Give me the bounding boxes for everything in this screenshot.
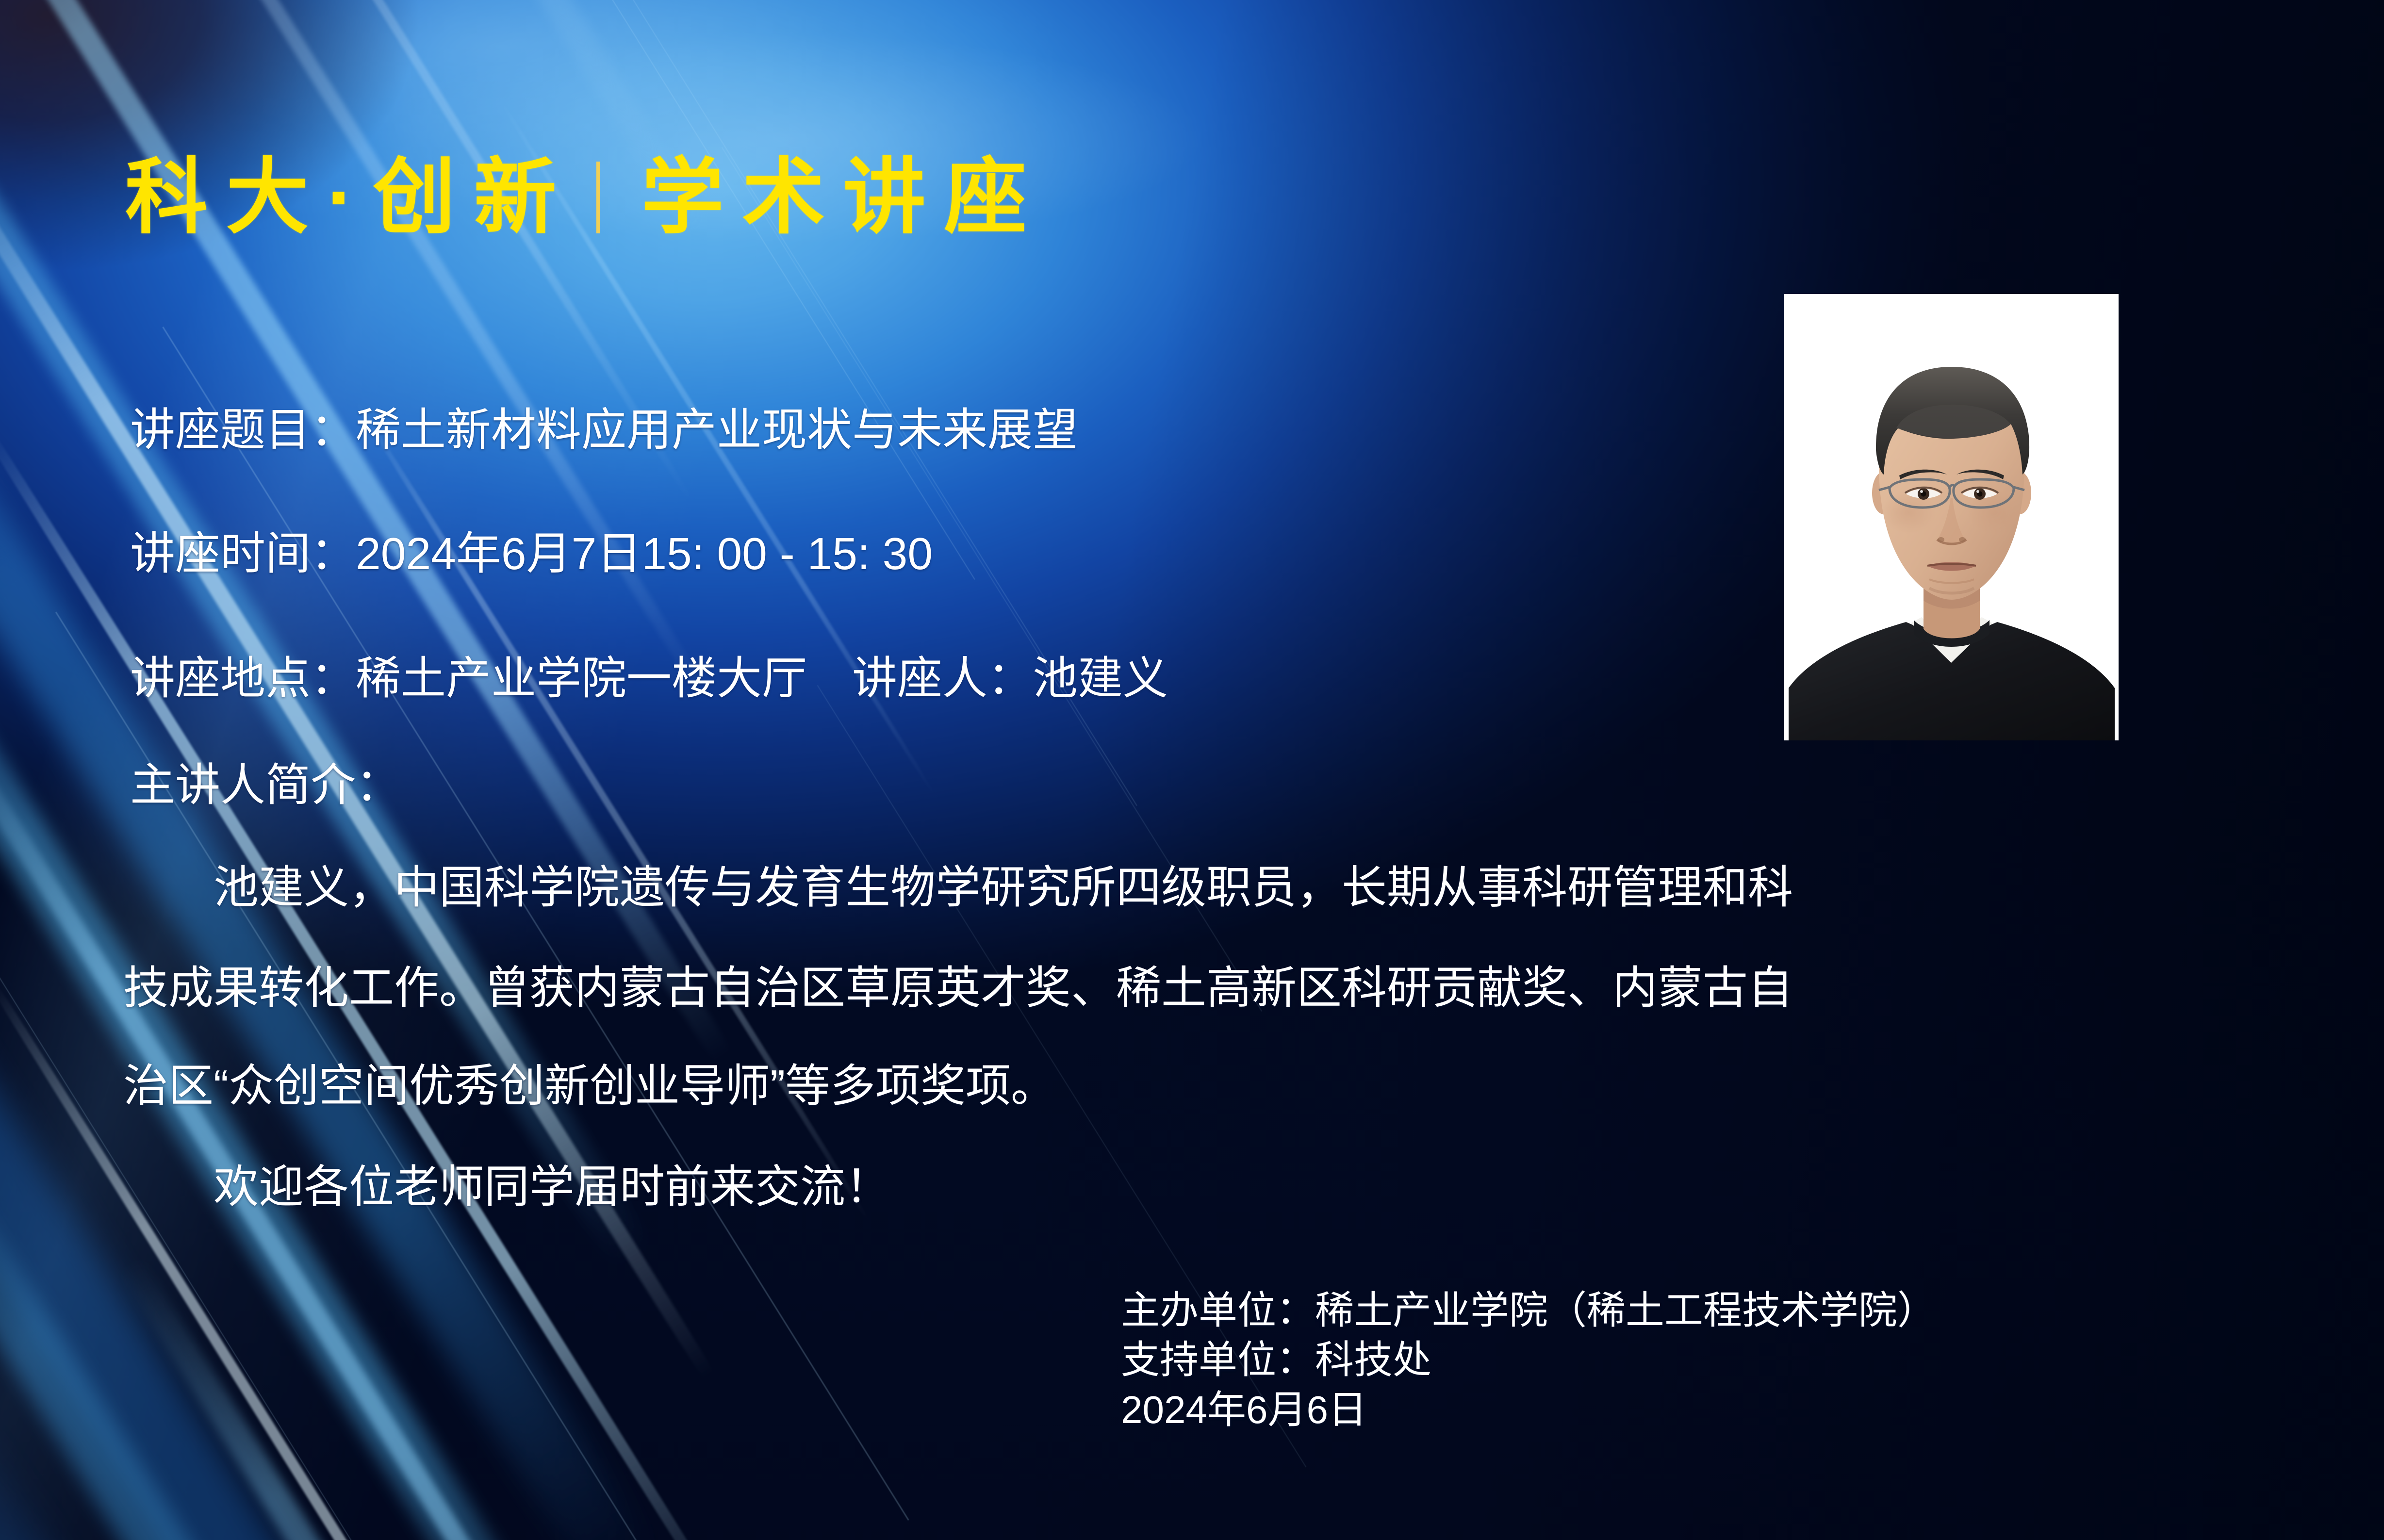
- lecture-time: 讲座时间：2024年6月7日15: 00 - 15: 30: [130, 531, 933, 576]
- footer-supporter: 支持单位：科技处: [1121, 1335, 1936, 1385]
- speaker-photo: [1784, 294, 2119, 740]
- welcome-line: 欢迎各位老师同学届时前来交流！: [123, 1164, 890, 1210]
- bio-paragraph-line: 技成果转化工作。曾获内蒙古自治区草原英才奖、稀土高新区科研贡献奖、内蒙古自: [123, 966, 1793, 1011]
- lecture-topic: 讲座题目：稀土新材料应用产业现状与未来展望: [130, 408, 1078, 453]
- title-left: 科大·创新: [125, 156, 575, 239]
- bio-paragraph-line: 治区“众创空间优秀创新创业导师”等多项奖项。: [123, 1064, 1056, 1109]
- speaker-bio-heading: 主讲人简介：: [130, 763, 401, 808]
- lecture-poster: 科大·创新 学术讲座 讲座题目：稀土新材料应用产业现状与未来展望 讲座时间：20…: [0, 0, 2384, 1540]
- footer-date: 2024年6月6日: [1121, 1385, 1936, 1435]
- lecture-venue-and-speaker: 讲座地点：稀土产业学院一楼大厅 讲座人：池建义: [130, 656, 1168, 701]
- footer-organizer: 主办单位：稀土产业学院（稀土工程技术学院）: [1121, 1286, 1936, 1335]
- title-right: 学术讲座: [641, 156, 1045, 239]
- title-divider-icon: [596, 162, 600, 233]
- bio-paragraph-line: 池建义，中国科学院遗传与发育生物学研究所四级职员，长期从事科研管理和科: [123, 865, 1793, 910]
- poster-title: 科大·创新 学术讲座: [125, 156, 1045, 239]
- poster-footer: 主办单位：稀土产业学院（稀土工程技术学院） 支持单位：科技处 2024年6月6日: [1121, 1286, 1936, 1435]
